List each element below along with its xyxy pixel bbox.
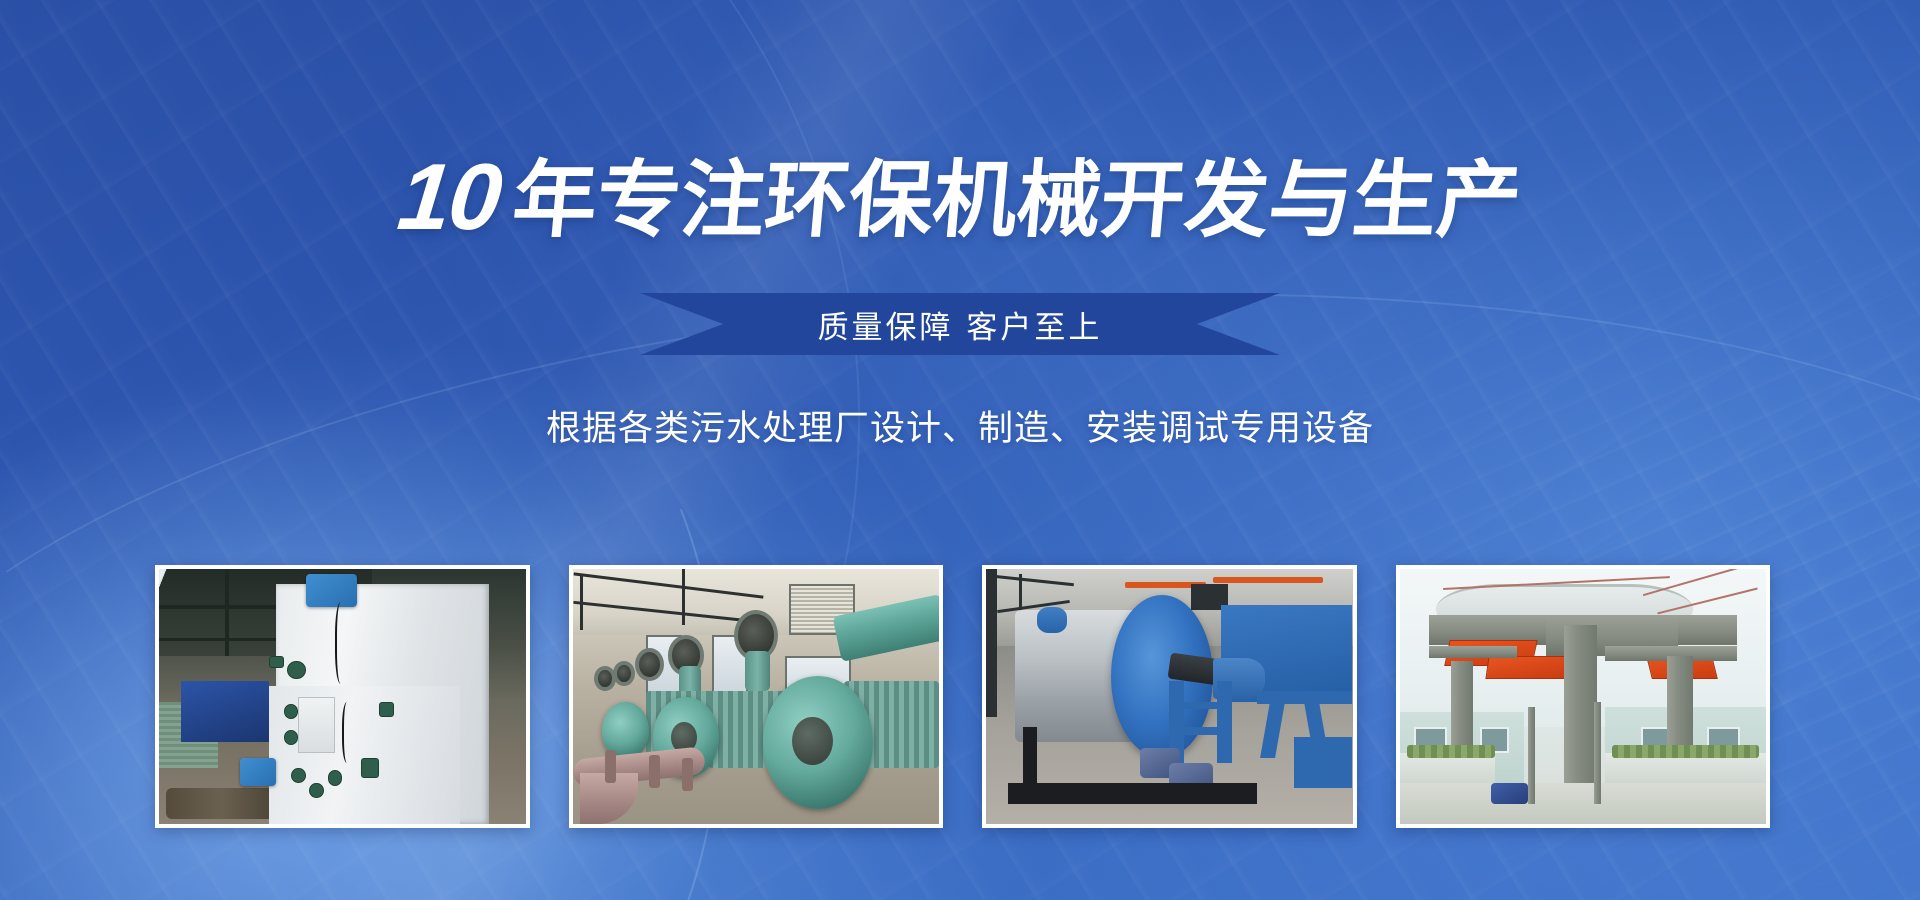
steel-column [986,569,997,717]
pump-unit [1491,783,1528,803]
support-brace [1169,702,1231,710]
ceiling-post [682,569,685,625]
headline-number: 10 [394,150,518,244]
blue-frame [1260,702,1285,758]
pipe-flange [605,750,616,783]
ribbon-label: 质量保障 客户至上 [818,302,1103,347]
equipment-base-frame [1008,783,1257,803]
valve-knob [291,768,306,783]
gallery-item-blowers[interactable] [569,565,944,828]
pipe-flange [649,755,660,788]
floor-debris [166,788,276,819]
blower-neck [745,651,771,692]
ribbon-shape: 质量保障 客户至上 [640,293,1280,355]
power-cable [342,702,354,763]
blower-inlet [613,661,635,687]
photo-gallery [155,565,1770,828]
red-weir-panel [1486,656,1570,679]
support-brace [1169,727,1231,735]
impeller-hub [792,717,832,765]
banner-stage: 10年专注环保机械开发与生产 质量保障 客户至上 根据各类污水处理厂设计、制造、… [0,0,1920,900]
page-subtitle: 根据各类污水处理厂设计、制造、安装调试专用设备 [0,400,1920,451]
valve-knob [328,770,343,785]
base-leg [1023,727,1038,788]
photo-daf-unit [159,569,526,824]
drum-band [1037,607,1066,633]
deck-edge [1429,646,1517,659]
valve-knob [379,702,394,717]
hedge [1407,745,1495,758]
photo-drum-screen [986,569,1353,824]
valve-knob [287,661,305,679]
support-leg [1217,681,1232,763]
blue-gear-motor [240,758,277,786]
ceiling-post [580,574,583,630]
slogan-ribbon: 质量保障 客户至上 [640,293,1280,355]
ground [1400,783,1767,824]
valve-knob [284,730,299,745]
blue-gear-motor [306,574,357,607]
pipe-flange [682,758,693,791]
gallery-item-daf-unit[interactable] [155,565,530,828]
gallery-item-drum-screen[interactable] [982,565,1357,828]
blower-inlet [635,648,664,681]
vertical-pipe [1594,702,1601,804]
valve-knob [361,758,379,778]
gallery-item-clarifier[interactable] [1396,565,1771,828]
headline-text: 年专注环保机械开发与生产 [510,158,1525,242]
overhead-crane-rail [1213,577,1323,583]
background-machine [181,681,269,742]
blue-platform [1294,737,1353,788]
valve-knob [269,656,284,669]
vertical-pipe [1528,707,1535,804]
photo-clarifier [1400,569,1767,824]
control-panel [298,697,335,753]
hedge [1612,745,1759,758]
photo-blowers [573,569,940,824]
roof-post [225,569,229,656]
power-cable [335,602,349,684]
page-title: 10年专注环保机械开发与生产 [0,150,1920,244]
concrete-column [1564,625,1597,804]
